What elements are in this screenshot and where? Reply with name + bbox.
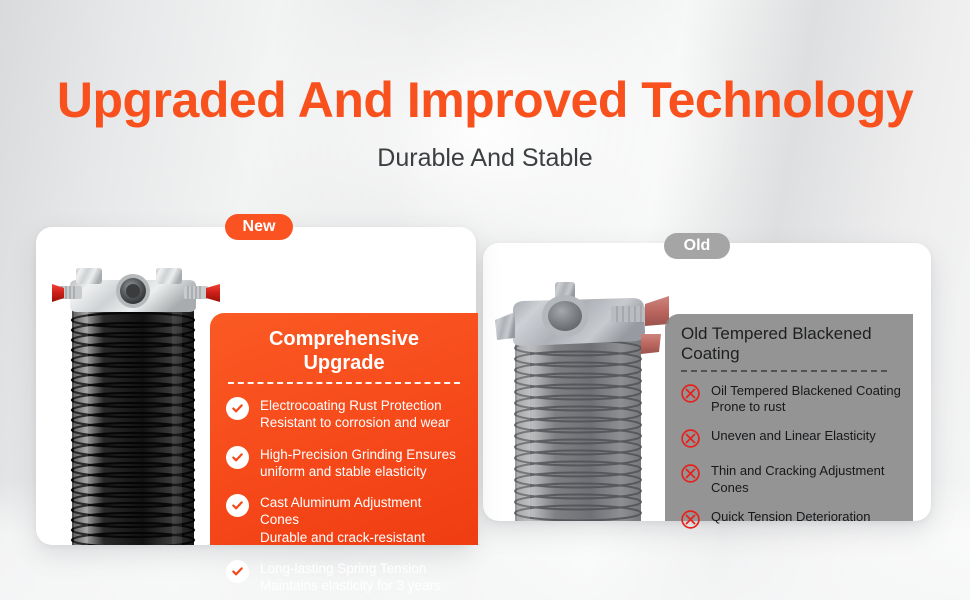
badge-old-label: Old: [684, 237, 711, 255]
badge-old: Old: [664, 233, 730, 259]
new-feature-list: Electrocoating Rust Protection Resistant…: [226, 396, 462, 594]
badge-new: New: [225, 214, 293, 240]
x-circle-icon: [679, 382, 702, 405]
badge-new-label: New: [243, 218, 276, 236]
infographic-canvas: Upgraded And Improved Technology Durable…: [0, 0, 970, 600]
page-subtitle: Durable And Stable: [0, 144, 970, 173]
check-circle-icon: [226, 446, 249, 469]
list-item-text: Long-lasting Spring Tension Maintains el…: [260, 559, 441, 595]
check-circle-icon: [226, 560, 249, 583]
list-item-text: Thin and Cracking Adjustment Cones: [711, 461, 884, 496]
new-panel-divider: [228, 382, 460, 384]
x-circle-icon: [679, 462, 702, 485]
list-item-text: Cast Aluminum Adjustment Cones Durable a…: [260, 493, 462, 546]
list-item-text: Electrocoating Rust Protection Resistant…: [260, 396, 450, 432]
list-item: High-Precision Grinding Ensures uniform …: [226, 445, 462, 481]
list-item: Electrocoating Rust Protection Resistant…: [226, 396, 462, 432]
list-item: Thin and Cracking Adjustment Cones: [679, 461, 901, 496]
old-panel-title: Old Tempered Blackened Coating: [679, 324, 901, 365]
list-item-text: Quick Tension Deterioration: [711, 507, 870, 525]
x-circle-icon: [679, 508, 702, 531]
list-item: Quick Tension Deterioration: [679, 507, 901, 531]
check-circle-icon: [226, 494, 249, 517]
new-panel-title: Comprehensive Upgrade: [226, 327, 462, 375]
list-item: Uneven and Linear Elasticity: [679, 426, 901, 450]
page-title: Upgraded And Improved Technology: [0, 72, 970, 128]
list-item: Oil Tempered Blackened Coating Prone to …: [679, 381, 901, 416]
old-feature-list: Oil Tempered Blackened Coating Prone to …: [679, 381, 901, 531]
new-feature-panel: Comprehensive Upgrade Electrocoating Rus…: [210, 313, 478, 545]
old-panel-divider: [681, 370, 887, 372]
list-item-text: High-Precision Grinding Ensures uniform …: [260, 445, 456, 481]
list-item-text: Uneven and Linear Elasticity: [711, 426, 876, 444]
old-feature-panel: Old Tempered Blackened Coating Oil Tempe…: [665, 314, 913, 521]
check-circle-icon: [226, 397, 249, 420]
x-circle-icon: [679, 427, 702, 450]
list-item: Cast Aluminum Adjustment Cones Durable a…: [226, 493, 462, 546]
list-item-text: Oil Tempered Blackened Coating Prone to …: [711, 381, 901, 416]
list-item: Long-lasting Spring Tension Maintains el…: [226, 559, 462, 595]
